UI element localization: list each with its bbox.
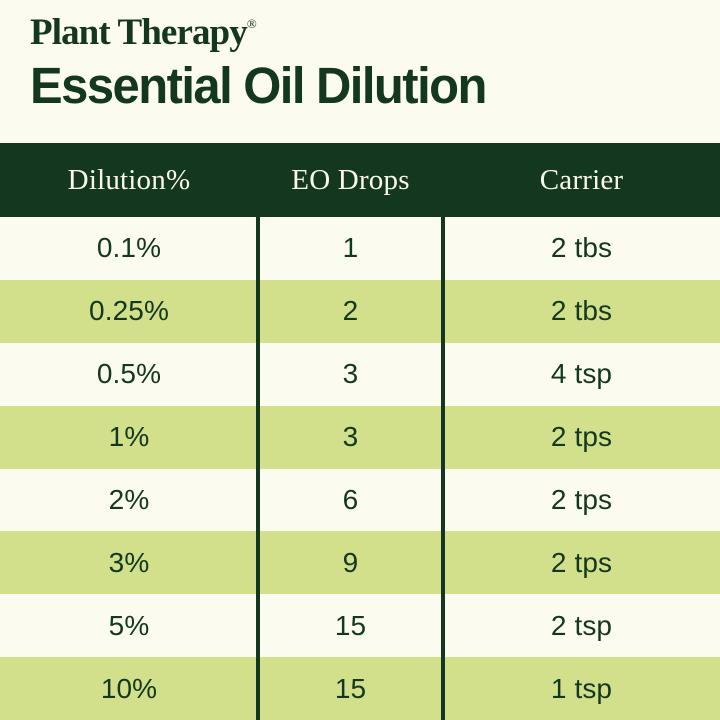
cell-dilution: 0.1%	[0, 232, 258, 264]
table-header-row: Dilution% EO Drops Carrier	[0, 143, 720, 217]
table-row: 3% 9 2 tps	[0, 531, 720, 594]
cell-eo-drops: 15	[258, 610, 443, 642]
brand-logo: Plant Therapy®	[30, 14, 257, 52]
cell-dilution: 0.5%	[0, 358, 258, 390]
column-header-dilution: Dilution%	[0, 164, 258, 197]
table-row: 2% 6 2 tps	[0, 469, 720, 532]
cell-eo-drops: 9	[258, 547, 443, 579]
cell-eo-drops: 3	[258, 358, 443, 390]
cell-dilution: 0.25%	[0, 295, 258, 327]
cell-carrier: 2 tps	[443, 547, 720, 579]
cell-carrier: 1 tsp	[443, 673, 720, 705]
page-title: Essential Oil Dilution	[30, 59, 692, 113]
cell-dilution: 2%	[0, 484, 258, 516]
column-header-carrier: Carrier	[443, 164, 720, 197]
cell-dilution: 5%	[0, 610, 258, 642]
cell-carrier: 2 tps	[443, 421, 720, 453]
cell-eo-drops: 3	[258, 421, 443, 453]
cell-carrier: 2 tbs	[443, 232, 720, 264]
cell-dilution: 3%	[0, 547, 258, 579]
cell-dilution: 1%	[0, 421, 258, 453]
cell-carrier: 2 tbs	[443, 295, 720, 327]
table-row: 1% 3 2 tps	[0, 406, 720, 469]
cell-carrier: 2 tps	[443, 484, 720, 516]
dilution-table: Dilution% EO Drops Carrier 0.1% 1 2 tbs …	[0, 143, 720, 720]
table-row: 0.5% 3 4 tsp	[0, 343, 720, 406]
cell-carrier: 4 tsp	[443, 358, 720, 390]
cell-eo-drops: 15	[258, 673, 443, 705]
dilution-chart-page: Plant Therapy® Essential Oil Dilution Di…	[0, 0, 720, 720]
column-header-eo-drops: EO Drops	[258, 164, 443, 197]
table-row: 5% 15 2 tsp	[0, 594, 720, 657]
cell-eo-drops: 1	[258, 232, 443, 264]
table-row: 0.1% 1 2 tbs	[0, 217, 720, 280]
brand-header: Plant Therapy® Essential Oil Dilution	[0, 0, 720, 143]
cell-dilution: 10%	[0, 673, 258, 705]
cell-eo-drops: 2	[258, 295, 443, 327]
brand-name: Plant Therapy	[30, 12, 247, 53]
table-body: 0.1% 1 2 tbs 0.25% 2 2 tbs 0.5% 3 4 tsp …	[0, 217, 720, 720]
cell-eo-drops: 6	[258, 484, 443, 516]
table-row: 0.25% 2 2 tbs	[0, 280, 720, 343]
table-row: 10% 15 1 tsp	[0, 657, 720, 720]
registered-trademark-icon: ®	[247, 16, 257, 31]
cell-carrier: 2 tsp	[443, 610, 720, 642]
